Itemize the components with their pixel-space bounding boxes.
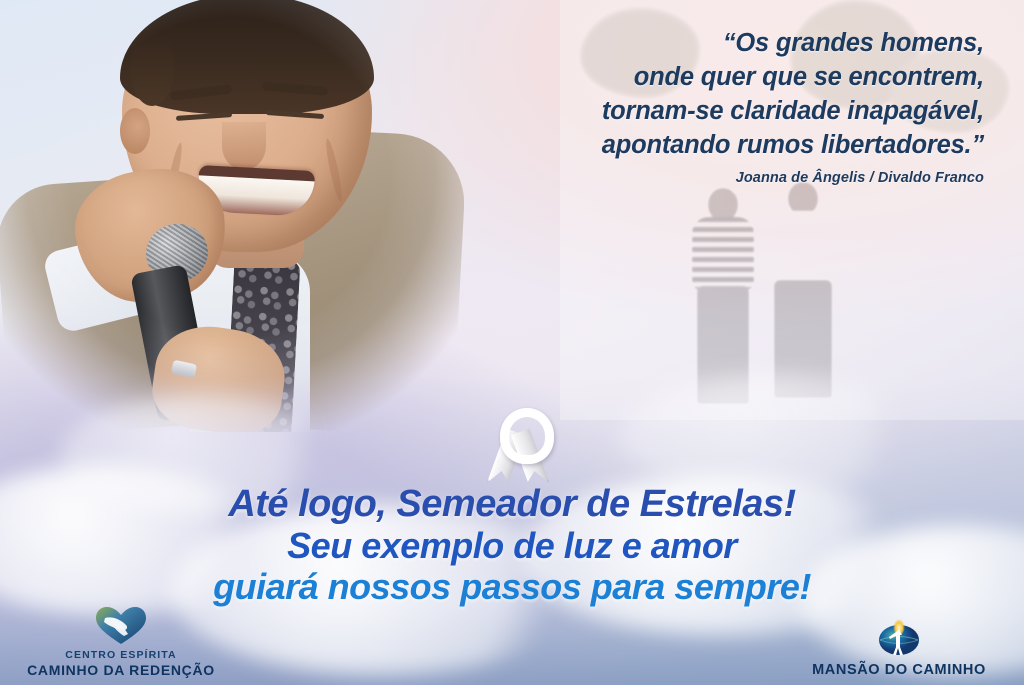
logo-left-line-1: CENTRO ESPÍRITA: [6, 649, 236, 662]
hair: [120, 0, 374, 114]
headline-line-2: Seu exemplo de luz e amor: [0, 525, 1024, 566]
quote-author: Joanna de Ângelis / Divaldo Franco: [454, 170, 984, 186]
mourning-ribbon-icon: [487, 408, 549, 488]
logo-right-line-2: MANSÃO DO CAMINHO: [784, 662, 1014, 679]
headline-line-3: guiará nossos passos para sempre!: [0, 566, 1024, 607]
globe-figure-icon: [876, 615, 922, 659]
memorial-poster: “Os grandes homens, onde quer que se enc…: [0, 0, 1024, 685]
headline: Até logo, Semeador de Estrelas! Seu exem…: [0, 484, 1024, 607]
ribbon-loop: [500, 408, 554, 464]
ear: [120, 108, 150, 154]
background-person-legs: [697, 286, 749, 404]
background-person-legs: [774, 280, 833, 398]
quote-line-2: onde quer que se encontrem,: [454, 60, 984, 94]
nose: [222, 122, 266, 170]
headline-line-1: Até logo, Semeador de Estrelas!: [0, 484, 1024, 525]
background-person: [768, 182, 838, 404]
logo-centro-espirita: CENTRO ESPÍRITA CAMINHO DA REDENÇÃO: [6, 606, 236, 679]
background-person-torso: [768, 211, 838, 283]
portrait-fade-mask: [0, 0, 464, 432]
quote-line-3: tornam-se claridade inapagável,: [454, 94, 984, 128]
logo-left-line-2: CAMINHO DA REDENÇÃO: [6, 662, 236, 679]
background-person: [692, 188, 754, 404]
quote-text: “Os grandes homens, onde quer que se enc…: [454, 26, 984, 162]
background-person-torso: [692, 217, 754, 289]
logo-mansao-do-caminho: MANSÃO DO CAMINHO: [784, 615, 1014, 679]
heart-hands-icon: [94, 606, 148, 646]
background-railing: [910, 205, 1020, 283]
quote-line-4: apontando rumos libertadores.”: [454, 128, 984, 162]
quote-line-1: “Os grandes homens,: [454, 26, 984, 60]
portrait: [0, 0, 464, 432]
